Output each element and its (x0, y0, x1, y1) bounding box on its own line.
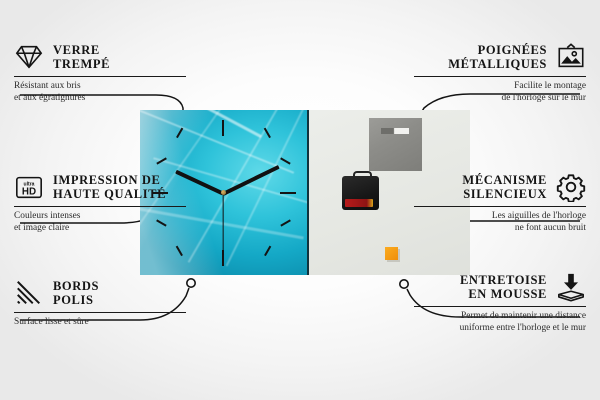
feature-verre-trempe: VERRE TREMPÉ Résistant aux bris et aux é… (14, 42, 229, 104)
feature-desc: Surface lisse et sûre (14, 317, 229, 328)
feature-title: IMPRESSION DE HAUTE QUALITÉ (53, 173, 166, 202)
divider (14, 312, 186, 314)
feature-impression-haute-qualite: ultra HD IMPRESSION DE HAUTE QUALITÉ Cou… (14, 172, 229, 234)
feature-entretoise-en-mousse: ENTRETOISE EN MOUSSE Permet de maintenir… (371, 272, 586, 334)
feature-desc: Les aiguilles de l'horloge ne font aucun… (371, 211, 586, 234)
tick-7 (176, 246, 183, 256)
tick-4 (280, 219, 290, 226)
tick-11 (176, 128, 183, 138)
polished-edges-icon (14, 278, 44, 308)
tick-2 (280, 157, 290, 164)
tick-1 (264, 128, 271, 138)
infographic-canvas: VERRE TREMPÉ Résistant aux bris et aux é… (0, 0, 600, 400)
foam-spacer-icon (556, 272, 586, 302)
tick-12 (222, 120, 224, 136)
feature-title: VERRE TREMPÉ (53, 43, 110, 72)
feature-title: POIGNÉES MÉTALLIQUES (448, 43, 547, 72)
divider (414, 206, 586, 208)
picture-frame-icon (556, 42, 586, 72)
divider (14, 76, 186, 78)
gear-icon (556, 172, 586, 202)
divider (414, 306, 586, 308)
feature-poignees-metalliques: POIGNÉES MÉTALLIQUES Facilite le montage… (371, 42, 586, 104)
feature-mecanisme-silencieux: MÉCANISME SILENCIEUX Les aiguilles de l'… (371, 172, 586, 234)
feature-desc: Facilite le montage de l'horloge sur le … (371, 81, 586, 104)
diamond-icon (14, 42, 44, 72)
feature-title: MÉCANISME SILENCIEUX (462, 173, 547, 202)
divider (14, 206, 186, 208)
feature-title: BORDS POLIS (53, 279, 99, 308)
feature-desc: Permet de maintenir une distance uniform… (371, 311, 586, 334)
feature-title: ENTRETOISE EN MOUSSE (460, 273, 547, 302)
feature-desc: Résistant aux bris et aux égratignures (14, 81, 229, 104)
foam-spacer (385, 247, 398, 260)
tick-3 (280, 192, 296, 194)
hanger-plate (369, 118, 422, 171)
feature-bords-polis: BORDS POLIS Surface lisse et sûre (14, 278, 229, 329)
tick-5 (264, 246, 271, 256)
ultra-hd-icon: ultra HD (14, 172, 44, 202)
feature-desc: Couleurs intenses et image claire (14, 211, 229, 234)
divider (414, 76, 586, 78)
svg-text:HD: HD (22, 187, 36, 198)
